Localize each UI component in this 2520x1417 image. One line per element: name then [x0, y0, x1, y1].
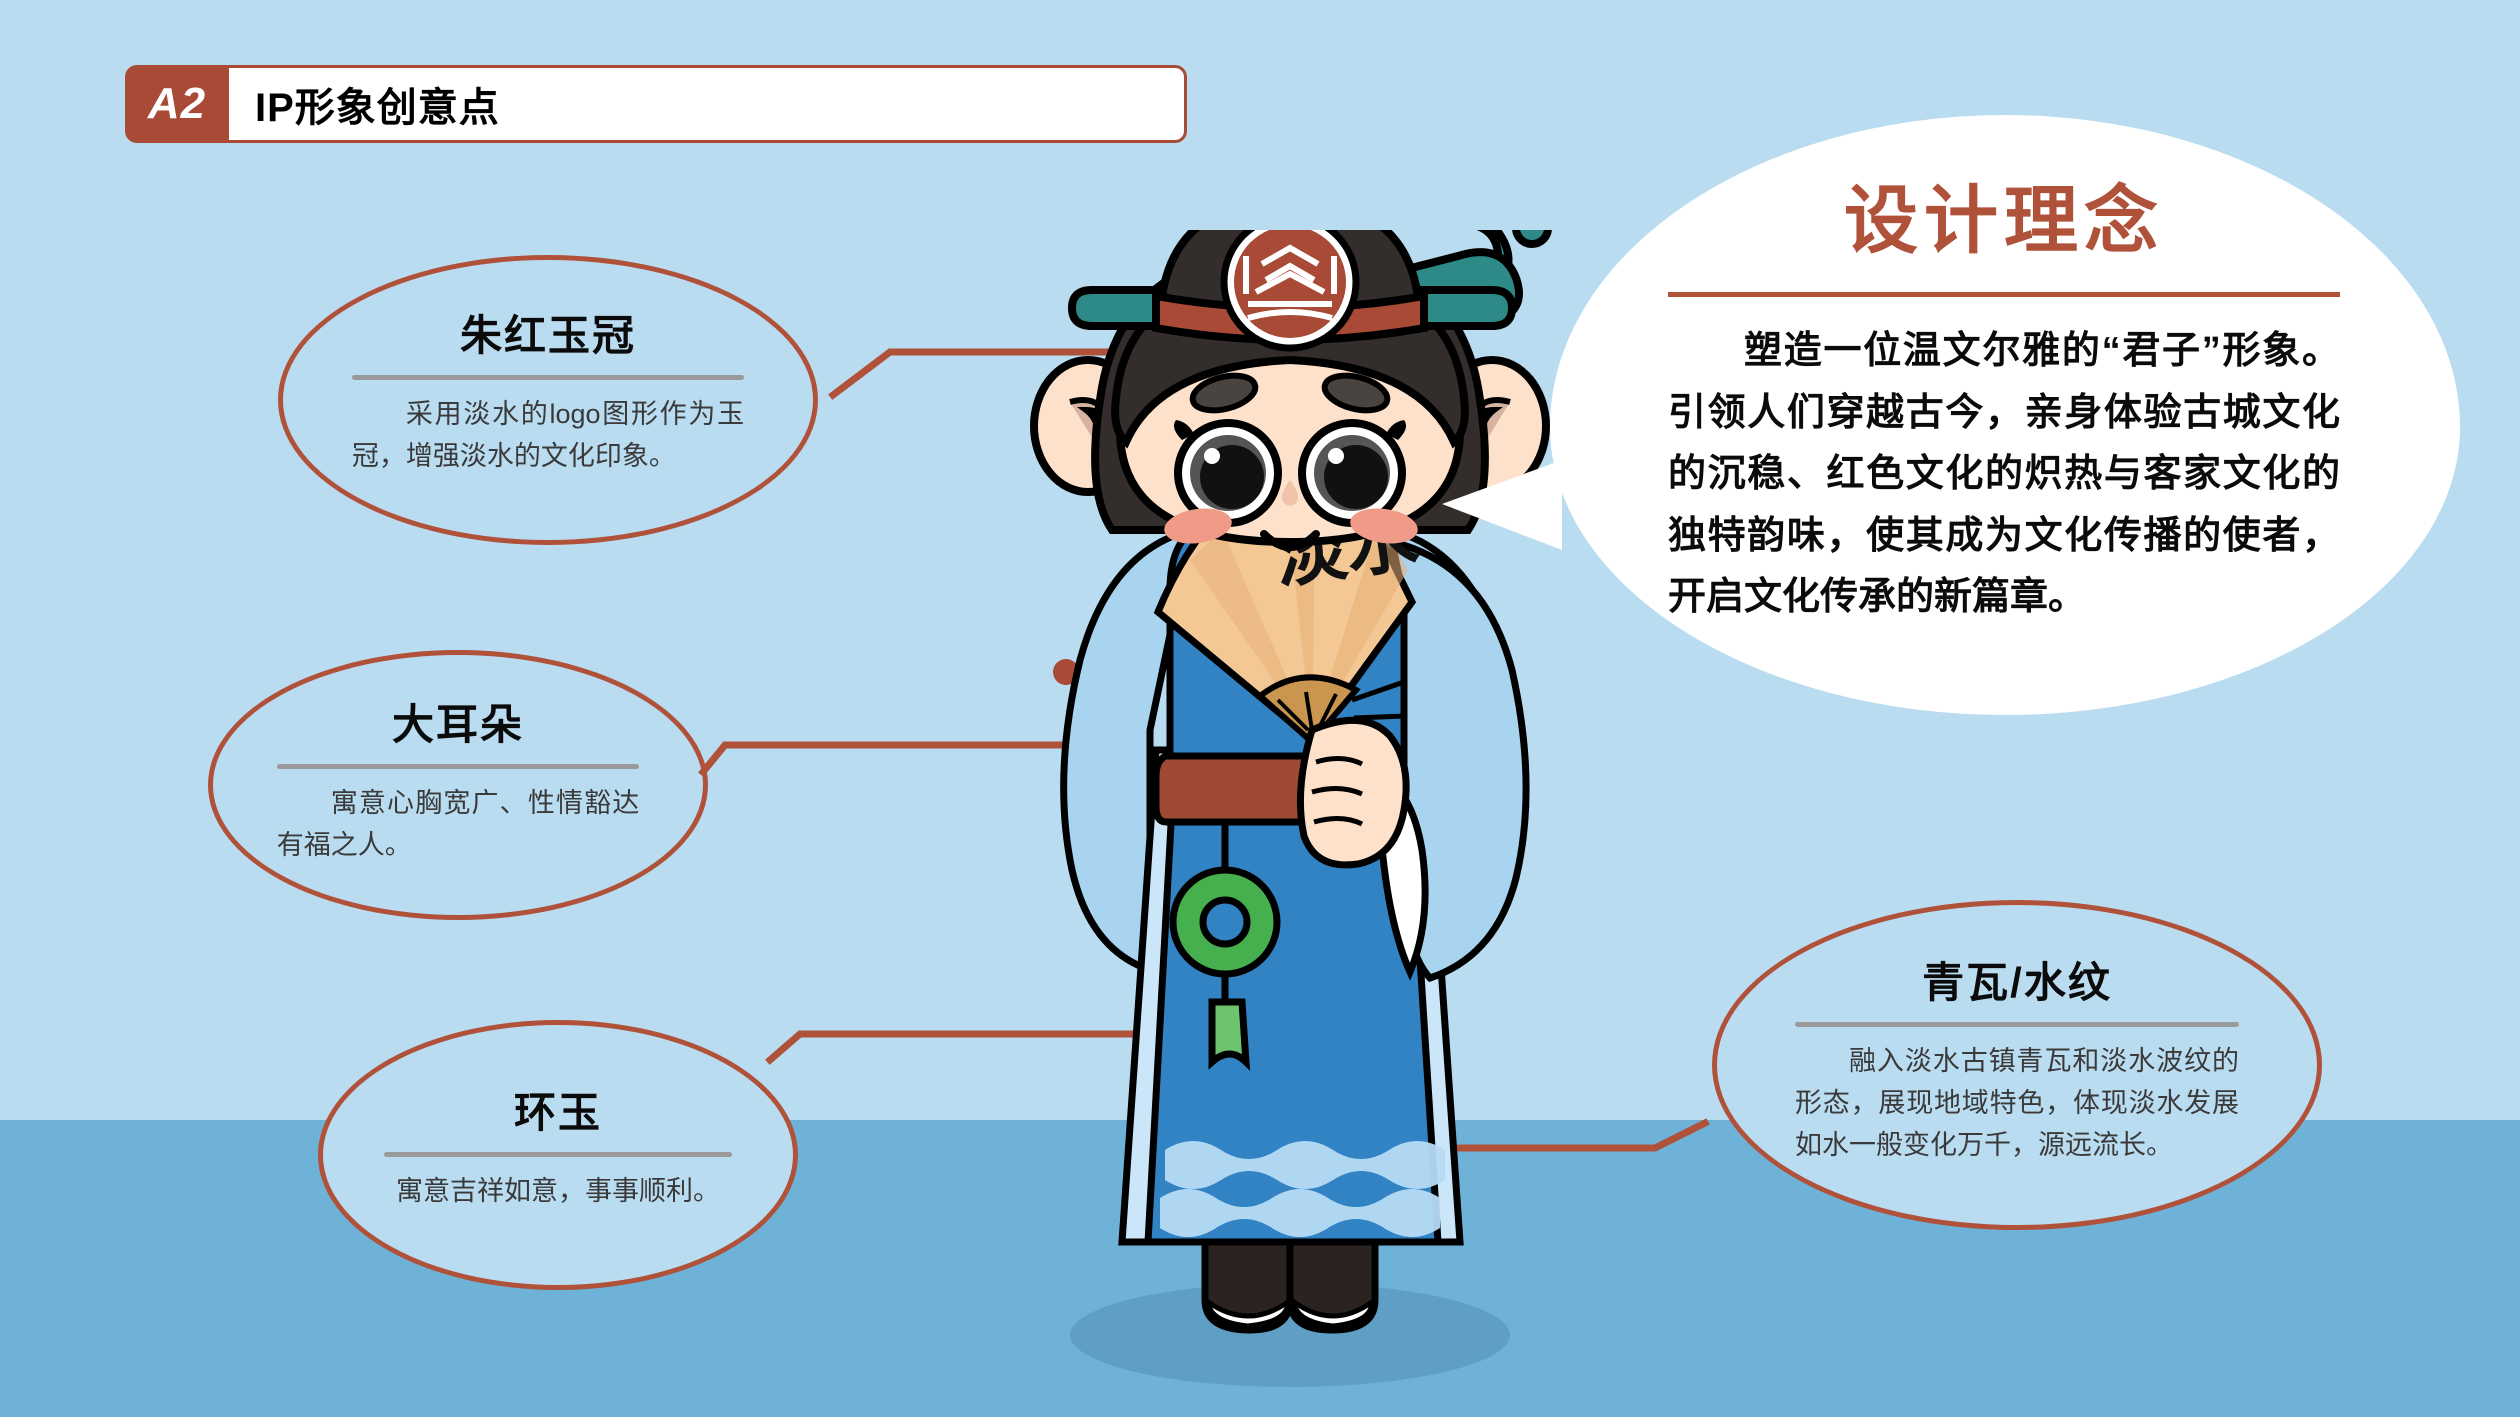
poster-canvas: A2 IP形象创意点 朱红玉冠 采用淡水的logo图形作为玉冠，增强淡水的文化印…: [0, 0, 2520, 1417]
section-badge: A2: [125, 65, 229, 143]
callout-title: 大耳朵: [392, 691, 524, 752]
callout-title: 青瓦/水纹: [1922, 949, 2112, 1010]
bubble-text: 塑造一位温文尔雅的“君子”形象。引领人们穿越古今，亲身体验古城文化的沉稳、红色文…: [1668, 321, 2340, 629]
callout-body: 寓意吉祥如意，事事顺利。: [384, 1171, 732, 1213]
callout-divider: [277, 764, 640, 769]
callout-tile-water-pattern[interactable]: 青瓦/水纹 融入淡水古镇青瓦和淡水波纹的形态，展现地域特色，体现淡水发展如水一般…: [1712, 900, 2322, 1230]
callout-divider: [352, 375, 744, 380]
callout-red-jade-crown[interactable]: 朱红玉冠 采用淡水的logo图形作为玉冠，增强淡水的文化印象。: [278, 255, 818, 545]
hand: [1300, 720, 1406, 865]
mascot-illustration: 淡水: [960, 230, 1620, 1410]
callout-divider: [384, 1152, 732, 1157]
callout-body: 采用淡水的logo图形作为玉冠，增强淡水的文化印象。: [352, 394, 744, 478]
callout-body: 融入淡水古镇青瓦和淡水波纹的形态，展现地域特色，体现淡水发展如水一般变化万千，源…: [1795, 1041, 2239, 1167]
right-eye: [1302, 420, 1406, 523]
callout-ring-jade[interactable]: 环玉 寓意吉祥如意，事事顺利。: [318, 1020, 798, 1290]
callout-body: 寓意心胸宽广、性情豁达有福之人。: [277, 783, 640, 867]
section-header: A2 IP形象创意点: [125, 65, 1187, 143]
bubble-content: 设计理念 塑造一位温文尔雅的“君子”形象。引领人们穿越古今，亲身体验古城文化的沉…: [1668, 161, 2340, 629]
callout-title: 朱红玉冠: [460, 302, 636, 363]
page-title: IP形象创意点: [229, 75, 500, 133]
left-eye: [1174, 420, 1278, 523]
callout-divider: [1795, 1022, 2239, 1027]
bubble-title: 设计理念: [1668, 161, 2340, 268]
design-concept-bubble[interactable]: 设计理念 塑造一位温文尔雅的“君子”形象。引领人们穿越古今，亲身体验古城文化的沉…: [1550, 115, 2460, 715]
bubble-tail: [1442, 460, 1562, 550]
section-title-bar: IP形象创意点: [229, 65, 1187, 143]
callout-big-ears[interactable]: 大耳朵 寓意心胸宽广、性情豁达有福之人。: [208, 650, 708, 920]
bubble-divider: [1668, 292, 2340, 297]
callout-title: 环玉: [514, 1079, 602, 1140]
